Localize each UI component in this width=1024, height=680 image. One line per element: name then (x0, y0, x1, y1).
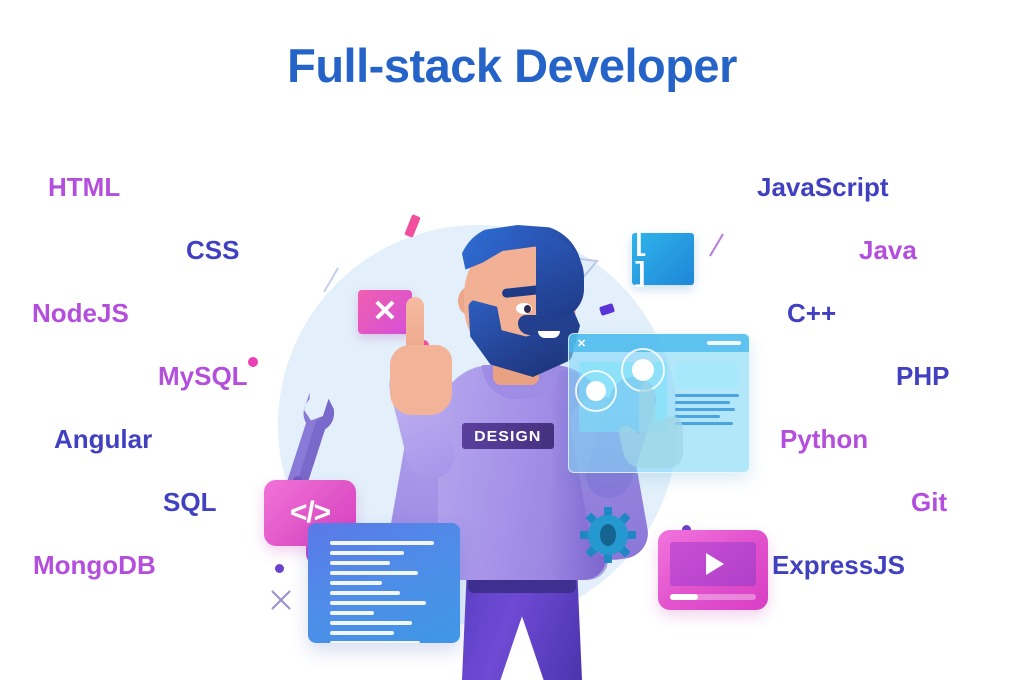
browser-titlebar: ✕ (569, 334, 749, 352)
touch-indicator-dot-1 (586, 381, 606, 401)
code-line (330, 621, 412, 625)
skill-label-html: HTML (48, 174, 120, 200)
code-document-lines (330, 541, 434, 643)
browser-mockup-window[interactable]: ✕ (568, 333, 750, 473)
play-icon[interactable] (706, 553, 724, 575)
skill-label-javascript: JavaScript (757, 174, 889, 200)
browser-close-icon[interactable]: ✕ (577, 337, 586, 350)
character-hair-side (536, 237, 584, 319)
code-line (330, 571, 418, 575)
code-line (330, 611, 374, 615)
code-line (330, 551, 404, 555)
skill-label-php: PHP (896, 363, 949, 389)
page-title: Full-stack Developer (0, 38, 1024, 93)
skill-label-java: Java (859, 237, 917, 263)
video-progress-fill (670, 594, 698, 600)
code-line (330, 591, 400, 595)
skill-label-nodejs: NodeJS (32, 300, 129, 326)
code-line (330, 631, 394, 635)
poster-canvas: Full-stack Developer (0, 0, 1024, 680)
skill-label-expressjs: ExpressJS (772, 552, 905, 578)
skill-label-angular: Angular (54, 426, 152, 452)
video-screen (670, 542, 756, 586)
skill-label-cpp: C++ (787, 300, 836, 326)
video-progress-bar[interactable] (670, 594, 756, 600)
code-line (330, 541, 434, 545)
browser-content (569, 352, 749, 473)
skill-label-mysql: MySQL (158, 363, 248, 389)
video-player-card[interactable] (658, 530, 768, 610)
character-pupil (524, 305, 531, 313)
shirt-design-badge: DESIGN (462, 423, 554, 449)
skill-label-css: CSS (186, 237, 239, 263)
character-left-hand (390, 345, 452, 415)
code-line (330, 641, 420, 643)
code-document-card[interactable] (308, 523, 460, 643)
code-line (330, 581, 382, 585)
gear-icon (580, 507, 636, 563)
browser-address-pill (707, 341, 741, 345)
skill-label-sql: SQL (163, 489, 216, 515)
shirt-badge-label: DESIGN (474, 428, 541, 445)
skill-label-git: Git (911, 489, 947, 515)
skill-label-python: Python (780, 426, 868, 452)
touch-hand-icon (617, 376, 691, 472)
developer-illustration: ✕ [ ] DESIGN (250, 215, 770, 680)
code-line (330, 561, 390, 565)
skill-label-mongodb: MongoDB (33, 552, 156, 578)
code-line (330, 601, 426, 605)
character-mouth (538, 331, 560, 338)
